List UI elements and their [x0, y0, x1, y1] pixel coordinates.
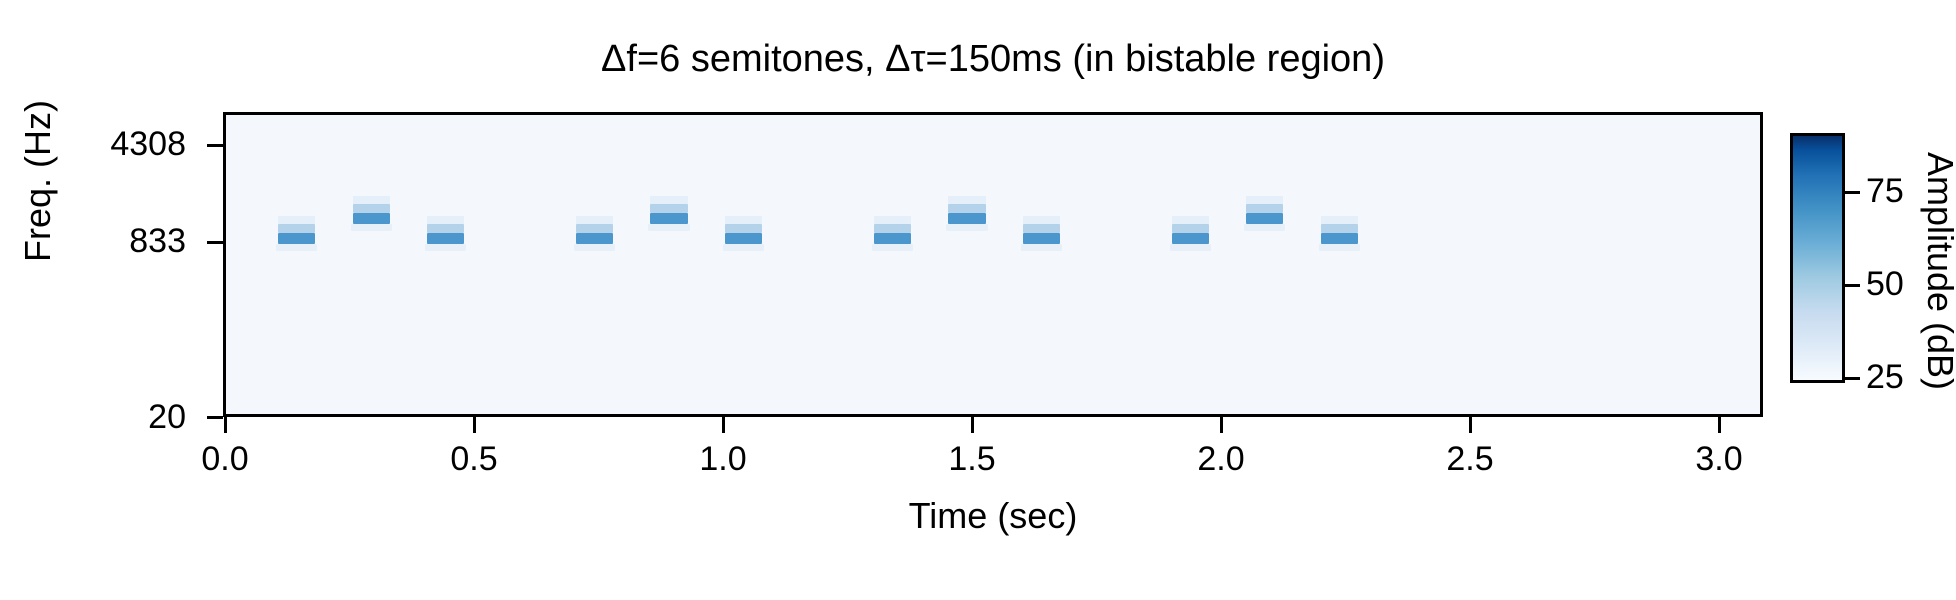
x-tick-mark-4 — [1220, 417, 1223, 433]
y-tick-mark-833 — [207, 241, 223, 244]
tone-sidelobe — [1170, 244, 1211, 251]
tone-b-blob — [353, 213, 390, 224]
tone-sidelobe — [872, 244, 913, 251]
tone-sidelobe — [574, 244, 615, 251]
tone-a-blob — [725, 224, 762, 233]
tone-sidelobe — [1021, 244, 1062, 251]
tone-a-blob — [1172, 224, 1209, 233]
colorbar — [1790, 133, 1845, 383]
tone-a-blob — [874, 233, 911, 244]
colorbar-tick-mark-50 — [1845, 284, 1860, 287]
x-tick-label-5: 2.5 — [1446, 440, 1493, 479]
tone-b-blob — [948, 213, 985, 224]
tone-sidelobe — [1319, 244, 1360, 251]
tone-a-blob — [576, 224, 613, 233]
x-tick-mark-0 — [224, 417, 227, 433]
y-tick-label-833: 833 — [129, 222, 186, 261]
tone-a-blob — [725, 233, 762, 244]
colorbar-tick-label-25: 25 — [1866, 358, 1904, 397]
colorbar-tick-label-50: 50 — [1866, 265, 1904, 304]
x-tick-label-1: 0.5 — [450, 440, 497, 479]
x-tick-label-3: 1.5 — [948, 440, 995, 479]
tone-sidelobe — [723, 244, 764, 251]
tone-sidelobe — [351, 224, 392, 231]
tone-a-blob — [1321, 233, 1358, 244]
x-tick-label-6: 3.0 — [1695, 440, 1742, 479]
x-tick-mark-3 — [971, 417, 974, 433]
y-tick-label-4308: 4308 — [110, 125, 186, 164]
tone-a-blob — [576, 233, 613, 244]
tone-a-blob — [427, 224, 464, 233]
tone-a-blob — [1321, 224, 1358, 233]
y-tick-mark-4308 — [207, 144, 223, 147]
x-tick-mark-6 — [1718, 417, 1721, 433]
tone-sidelobe — [946, 224, 987, 231]
y-tick-mark-20 — [207, 416, 223, 419]
tone-sidelobe — [276, 244, 317, 251]
y-tick-label-20: 20 — [148, 398, 186, 437]
tone-b-blob — [1246, 204, 1283, 213]
tone-sidelobe — [1244, 224, 1285, 231]
tone-a-blob — [1172, 233, 1209, 244]
y-axis-label: Freq. (Hz) — [17, 1, 59, 361]
plot-area[interactable] — [223, 112, 1763, 417]
x-tick-mark-1 — [473, 417, 476, 433]
tone-a-blob — [427, 233, 464, 244]
x-tick-label-2: 1.0 — [699, 440, 746, 479]
x-tick-label-4: 2.0 — [1197, 440, 1244, 479]
x-tick-mark-2 — [722, 417, 725, 433]
x-tick-label-0: 0.0 — [201, 440, 248, 479]
tone-b-blob — [1246, 213, 1283, 224]
tone-a-blob — [278, 233, 315, 244]
colorbar-tick-mark-25 — [1845, 377, 1860, 380]
colorbar-label: Amplitude (dB) — [1919, 101, 1956, 441]
tone-a-blob — [278, 224, 315, 233]
spectrogram-heatmap — [226, 115, 1760, 414]
tone-a-blob — [874, 224, 911, 233]
spectrogram-figure: Δf=6 semitones, Δτ=150ms (in bistable re… — [0, 0, 1956, 600]
tone-sidelobe — [425, 244, 466, 251]
tone-b-blob — [650, 204, 687, 213]
tone-b-blob — [948, 204, 985, 213]
tone-b-blob — [353, 204, 390, 213]
tone-sidelobe — [648, 224, 689, 231]
x-tick-mark-5 — [1469, 417, 1472, 433]
colorbar-tick-mark-75 — [1845, 191, 1860, 194]
colorbar-tick-label-75: 75 — [1866, 172, 1904, 211]
tone-a-blob — [1023, 233, 1060, 244]
tone-b-blob — [650, 213, 687, 224]
chart-title: Δf=6 semitones, Δτ=150ms (in bistable re… — [223, 38, 1763, 81]
tone-a-blob — [1023, 224, 1060, 233]
x-axis-label: Time (sec) — [223, 495, 1763, 537]
